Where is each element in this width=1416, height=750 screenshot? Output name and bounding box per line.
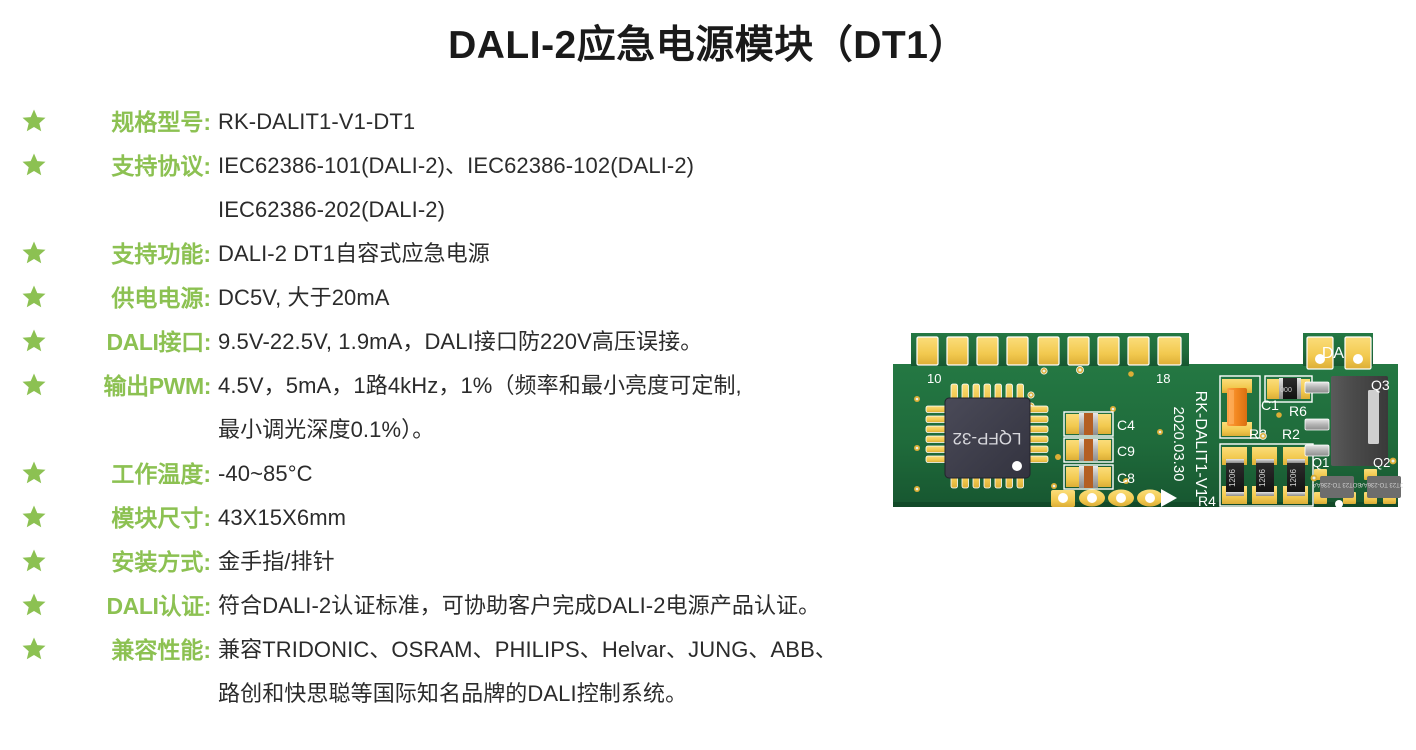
spec-value-cont: 最小调光深度0.1%）。 <box>218 408 980 452</box>
designator-q2: Q2 <box>1373 455 1390 470</box>
resistor-code-r4: 1206 <box>1228 469 1237 487</box>
star-icon-glyph <box>22 109 46 132</box>
spec-label: 供电电源: <box>68 276 218 320</box>
pcb-illustration: 10 18 <box>893 326 1403 516</box>
spec-row-certification: DALI认证: 符合DALI-2认证标准，可协助客户完成DALI-2电源产品认证… <box>0 584 980 628</box>
spec-label: 兼容性能: <box>68 628 218 672</box>
spec-row-protocol: 支持协议: IEC62386-101(DALI-2)、IEC62386-102(… <box>0 144 980 188</box>
spec-row-compatibility: 兼容性能: 兼容TRIDONIC、OSRAM、PHILIPS、Helvar、JU… <box>0 628 980 672</box>
spec-value: 兼容TRIDONIC、OSRAM、PHILIPS、Helvar、JUNG、ABB… <box>218 628 980 672</box>
spec-value: -40~85°C <box>218 452 980 496</box>
ic-marking: LQFP-32 <box>953 429 1022 448</box>
spec-value: 符合DALI-2认证标准，可协助客户完成DALI-2电源产品认证。 <box>218 584 980 628</box>
spec-list: 规格型号: RK-DALIT1-V1-DT1 支持协议: IEC62386-10… <box>0 100 980 716</box>
spec-row-function: 支持功能: DALI-2 DT1自容式应急电源 <box>0 232 980 276</box>
star-icon-placeholder <box>0 408 68 440</box>
spec-value: DALI-2 DT1自容式应急电源 <box>218 232 980 276</box>
star-icon-glyph <box>22 285 46 308</box>
spec-label: 安装方式: <box>68 540 218 584</box>
designator-r6: R6 <box>1289 403 1307 419</box>
spec-label: DALI认证: <box>68 584 218 628</box>
svg-text:000: 000 <box>1280 387 1292 394</box>
star-icon-glyph <box>22 373 46 396</box>
svg-text:SOT23 TO-236AA: SOT23 TO-236AA <box>1313 481 1362 487</box>
spec-row-pwm-output-cont: 最小调光深度0.1%）。 <box>0 408 980 452</box>
designator-c4: C4 <box>1117 417 1135 433</box>
page-title: DALI-2应急电源模块（DT1） <box>0 14 1416 70</box>
spec-value: IEC62386-101(DALI-2)、IEC62386-102(DALI-2… <box>218 144 980 188</box>
star-icon <box>0 584 68 616</box>
silk-part-number: RK-DALIT1-V1 <box>1192 391 1209 498</box>
designator-q1: Q1 <box>1312 455 1329 470</box>
spec-value: 4.5V，5mA，1路4kHz，1%（频率和最小亮度可定制, <box>218 364 980 408</box>
pcb-product-image: 10 18 <box>893 326 1403 516</box>
star-icon-glyph <box>22 461 46 484</box>
star-icon-glyph <box>22 153 46 176</box>
star-icon-glyph <box>22 549 46 572</box>
star-icon-glyph <box>22 637 46 660</box>
gold-finger-connector <box>917 337 1181 365</box>
spec-row-dali-interface: DALI接口: 9.5V-22.5V, 1.9mA，DALI接口防220V高压误… <box>0 320 980 364</box>
spec-label: 模块尺寸: <box>68 496 218 540</box>
star-icon <box>0 496 68 528</box>
star-icon <box>0 628 68 660</box>
designator-c8: C8 <box>1117 470 1135 486</box>
star-icon-glyph <box>22 505 46 528</box>
spec-row-power-supply: 供电电源: DC5V, 大于20mA <box>0 276 980 320</box>
star-icon <box>0 364 68 396</box>
spec-row-model: 规格型号: RK-DALIT1-V1-DT1 <box>0 100 980 144</box>
designator-r4: R4 <box>1198 493 1216 509</box>
spec-row-pwm-output: 输出PWM: 4.5V，5mA，1路4kHz，1%（频率和最小亮度可定制, <box>0 364 980 408</box>
spec-value: 金手指/排针 <box>218 540 980 584</box>
star-icon <box>0 276 68 308</box>
star-icon-glyph <box>22 329 46 352</box>
star-icon <box>0 540 68 572</box>
svg-text:SOT23 TO-236AA: SOT23 TO-236AA <box>1360 481 1403 487</box>
designator-r2: R2 <box>1282 426 1300 442</box>
spec-value: RK-DALIT1-V1-DT1 <box>218 100 980 144</box>
spec-value-cont: IEC62386-202(DALI-2) <box>218 188 980 232</box>
test-pads-row <box>1051 489 1177 507</box>
star-icon <box>0 452 68 484</box>
spec-value: 43X15X6mm <box>218 496 980 540</box>
designator-c1: C1 <box>1261 397 1279 413</box>
spec-row-compatibility-cont: 路创和快思聪等国际知名品牌的DALI控制系统。 <box>0 672 980 716</box>
spec-value: DC5V, 大于20mA <box>218 276 980 320</box>
spec-row-dimensions: 模块尺寸: 43X15X6mm <box>0 496 980 540</box>
star-icon <box>0 144 68 176</box>
spec-label: DALI接口: <box>68 320 218 364</box>
star-icon <box>0 232 68 264</box>
star-icon-glyph <box>22 593 46 616</box>
spec-label: 规格型号: <box>68 100 218 144</box>
spec-label: 支持功能: <box>68 232 218 276</box>
capacitor-group-c4-c9-c8: C4 C9 C8 <box>1064 412 1135 489</box>
spec-label: 工作温度: <box>68 452 218 496</box>
resistor-code-r2: 1206 <box>1289 469 1298 487</box>
star-icon <box>0 320 68 352</box>
star-icon-glyph <box>22 241 46 264</box>
silk-pin-end: 18 <box>1156 371 1170 386</box>
silk-da-label: DA <box>1322 345 1345 362</box>
designator-c9: C9 <box>1117 443 1135 459</box>
spec-label: 支持协议: <box>68 144 218 188</box>
spec-row-mounting: 安装方式: 金手指/排针 <box>0 540 980 584</box>
star-icon-placeholder <box>0 672 68 704</box>
spec-label: 输出PWM: <box>68 364 218 408</box>
resistor-code-r3: 1206 <box>1258 469 1267 487</box>
silk-date-code: 2020.03.30 <box>1170 406 1187 481</box>
spec-value: 9.5V-22.5V, 1.9mA，DALI接口防220V高压误接。 <box>218 320 980 364</box>
spec-value-cont: 路创和快思聪等国际知名品牌的DALI控制系统。 <box>218 672 980 716</box>
spec-row-protocol-cont: IEC62386-202(DALI-2) <box>0 188 980 232</box>
spec-row-temperature: 工作温度: -40~85°C <box>0 452 980 496</box>
star-icon-placeholder <box>0 188 68 220</box>
silk-pin-start: 10 <box>927 371 941 386</box>
designator-q3: Q3 <box>1371 377 1390 393</box>
star-icon <box>0 100 68 132</box>
